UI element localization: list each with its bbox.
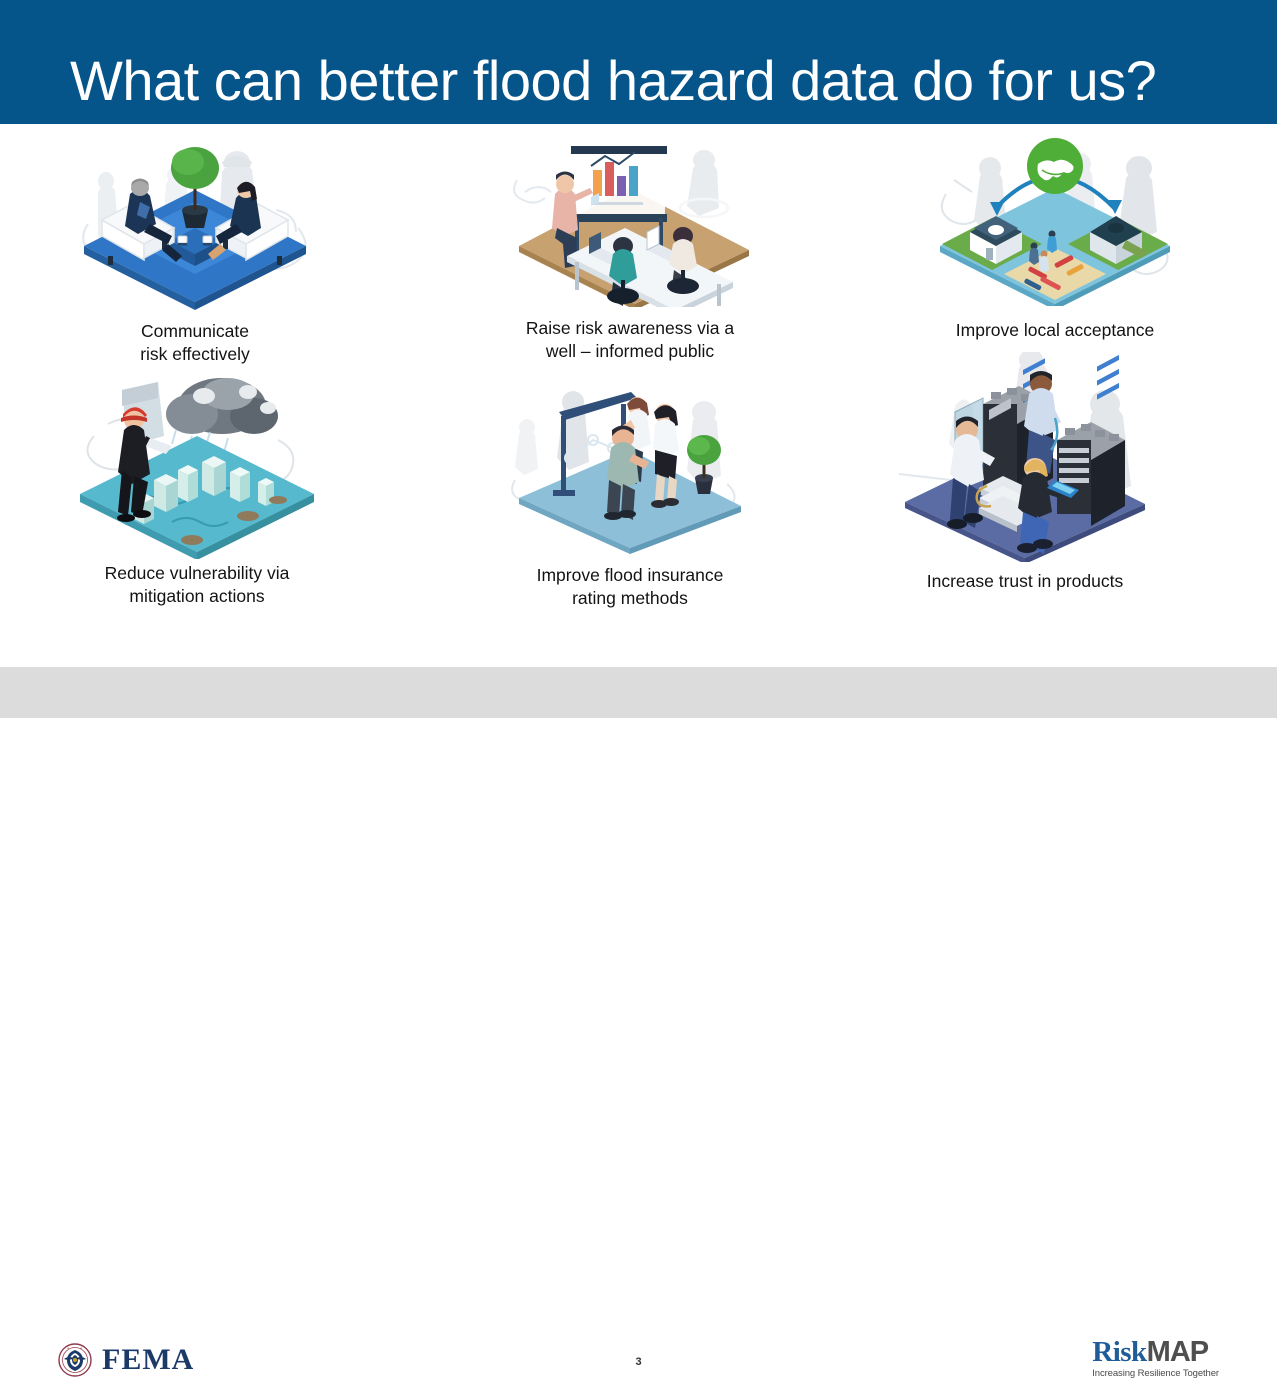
caption-line-2: rating methods bbox=[505, 587, 755, 610]
caption-line-1: Increase trust in products bbox=[895, 570, 1155, 593]
content-item-reduce-vulnerability: Reduce vulnerability via mitigation acti… bbox=[72, 374, 322, 634]
caption-line-2: mitigation actions bbox=[72, 585, 322, 608]
isometric-presentation-illustration bbox=[505, 132, 755, 307]
page-number: 3 bbox=[0, 1356, 1277, 1368]
caption-line-2: well – informed public bbox=[505, 340, 755, 363]
isometric-board-discussion-illustration bbox=[505, 376, 755, 556]
caption-flood-insurance: Improve flood insurance rating methods bbox=[505, 564, 755, 609]
caption-local-acceptance: Improve local acceptance bbox=[930, 319, 1180, 342]
caption-line-1: Improve flood insurance bbox=[505, 564, 755, 587]
slide-header: What can better flood hazard data do for… bbox=[0, 0, 1277, 124]
caption-line-1: Improve local acceptance bbox=[930, 319, 1180, 342]
isometric-flooded-city-illustration bbox=[72, 374, 322, 559]
content-item-trust-products: Increase trust in products bbox=[895, 352, 1155, 632]
riskmap-risk-text: Risk bbox=[1092, 1336, 1146, 1368]
caption-line-1: Communicate bbox=[70, 320, 320, 343]
slide-content-area: Communicate risk effectively bbox=[0, 124, 1277, 667]
slide-footer: ★★ FEMA 3 RiskMAP Increasing Resilience … bbox=[0, 667, 1277, 718]
caption-trust-products: Increase trust in products bbox=[895, 570, 1155, 593]
riskmap-map-text: MAP bbox=[1147, 1336, 1208, 1368]
caption-line-1: Reduce vulnerability via bbox=[72, 562, 322, 585]
isometric-handshake-houses-illustration bbox=[930, 136, 1180, 306]
content-item-local-acceptance: Improve local acceptance bbox=[930, 136, 1180, 386]
riskmap-logo: RiskMAP Increasing Resilience Together bbox=[1092, 1337, 1219, 1379]
isometric-meeting-illustration bbox=[70, 132, 320, 312]
riskmap-tagline: Increasing Resilience Together bbox=[1092, 1368, 1219, 1379]
caption-line-2: risk effectively bbox=[70, 343, 320, 366]
caption-reduce-vulnerability: Reduce vulnerability via mitigation acti… bbox=[72, 562, 322, 607]
content-item-communicate-risk: Communicate risk effectively bbox=[70, 132, 320, 382]
isometric-data-center-illustration bbox=[895, 352, 1155, 562]
caption-line-1: Raise risk awareness via a bbox=[505, 317, 755, 340]
caption-communicate-risk: Communicate risk effectively bbox=[70, 320, 320, 365]
content-item-flood-insurance: Improve flood insurance rating methods bbox=[505, 376, 755, 636]
riskmap-wordmark: RiskMAP bbox=[1092, 1337, 1219, 1367]
page-title: What can better flood hazard data do for… bbox=[70, 50, 1156, 112]
content-item-raise-awareness: Raise risk awareness via a well – inform… bbox=[505, 132, 755, 382]
caption-raise-awareness: Raise risk awareness via a well – inform… bbox=[505, 317, 755, 362]
